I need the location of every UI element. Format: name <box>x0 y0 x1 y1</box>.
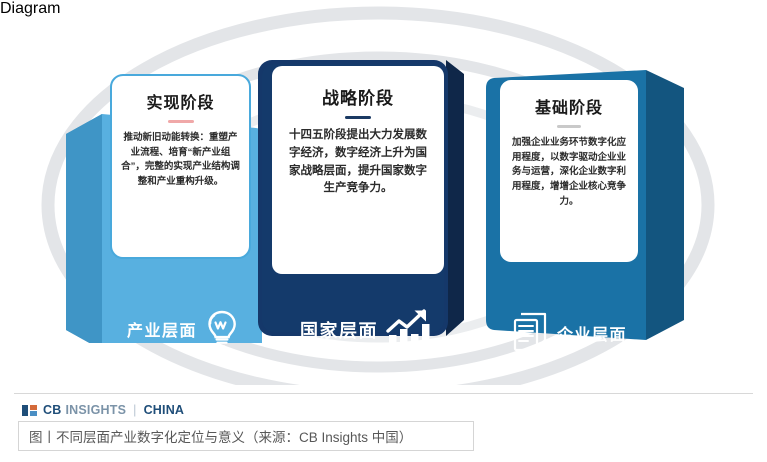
card-right-divider <box>557 125 581 128</box>
card-left-divider <box>168 120 194 123</box>
card-mid-title: 战略阶段 <box>322 84 394 109</box>
stage-card-industry[interactable]: 实现阶段 推动新旧动能转换：重塑产业流程、培育“新产业组合”，完整的实现产业结构… <box>42 58 262 343</box>
card-left-footer: 产业层面 <box>110 303 256 355</box>
card-right-body: 加强企业业务环节数字化应用程度，以数字驱动企业业务与运营，深化企业数字利用程度，… <box>508 136 630 210</box>
card-mid-divider <box>345 116 371 119</box>
brand-cb-text: CB <box>43 403 61 417</box>
infographic-canvas: 实现阶段 推动新旧动能转换：重塑产业流程、培育“新产业组合”，完整的实现产业结构… <box>0 0 767 385</box>
card-right-panel: 基础阶段 加强企业业务环节数字化应用程度，以数字驱动企业业务与运营，深化企业数字… <box>500 80 638 262</box>
card-right-title: 基础阶段 <box>535 94 603 118</box>
brand-china-text: CHINA <box>144 403 185 417</box>
documents-icon <box>513 312 549 354</box>
card-left-layer-label: 产业层面 <box>127 317 197 341</box>
brand-insights-text: INSIGHTS <box>65 403 126 417</box>
bar-chart-arrow-icon <box>386 309 432 351</box>
brand-separator: | <box>133 403 136 417</box>
card-left-body: 推动新旧动能转换：重塑产业流程、培育“新产业组合”，完整的实现产业结构调整和产业… <box>121 131 240 190</box>
card-mid-footer: 国家层面 <box>276 303 456 357</box>
card-left-panel: 实现阶段 推动新旧动能转换：重塑产业流程、培育“新产业组合”，完整的实现产业结构… <box>110 74 251 259</box>
card-right-layer-label: 企业层面 <box>557 321 627 345</box>
cb-insights-logo-mark <box>22 405 37 416</box>
card-mid-layer-label: 国家层面 <box>300 317 378 343</box>
card-mid-panel: 战略阶段 十四五阶段提出大力发展数字经济，数字经济上升为国家战略层面，提升国家数… <box>272 66 444 274</box>
lightbulb-icon <box>205 309 239 349</box>
stage-card-nation[interactable]: 战略阶段 十四五阶段提出大力发展数字经济，数字经济上升为国家战略层面，提升国家数… <box>250 48 470 343</box>
card-left-title: 实现阶段 <box>146 89 214 113</box>
stage-card-enterprise[interactable]: 基础阶段 加强企业业务环节数字化应用程度，以数字驱动企业业务与运营，深化企业数字… <box>478 62 698 342</box>
cb-insights-china-logo: CB INSIGHTS | CHINA <box>22 403 184 417</box>
card-right-footer: 企业层面 <box>496 307 644 359</box>
figure-footer: CB INSIGHTS | CHINA 图丨不同层面产业数字化定位与意义（来源：… <box>0 385 767 462</box>
card-mid-body: 十四五阶段提出大力发展数字经济，数字经济上升为国家战略层面，提升国家数字生产竞争… <box>284 127 432 198</box>
footer-divider <box>14 393 753 394</box>
figure-caption: 图丨不同层面产业数字化定位与意义（来源：CB Insights 中国） <box>18 421 474 451</box>
